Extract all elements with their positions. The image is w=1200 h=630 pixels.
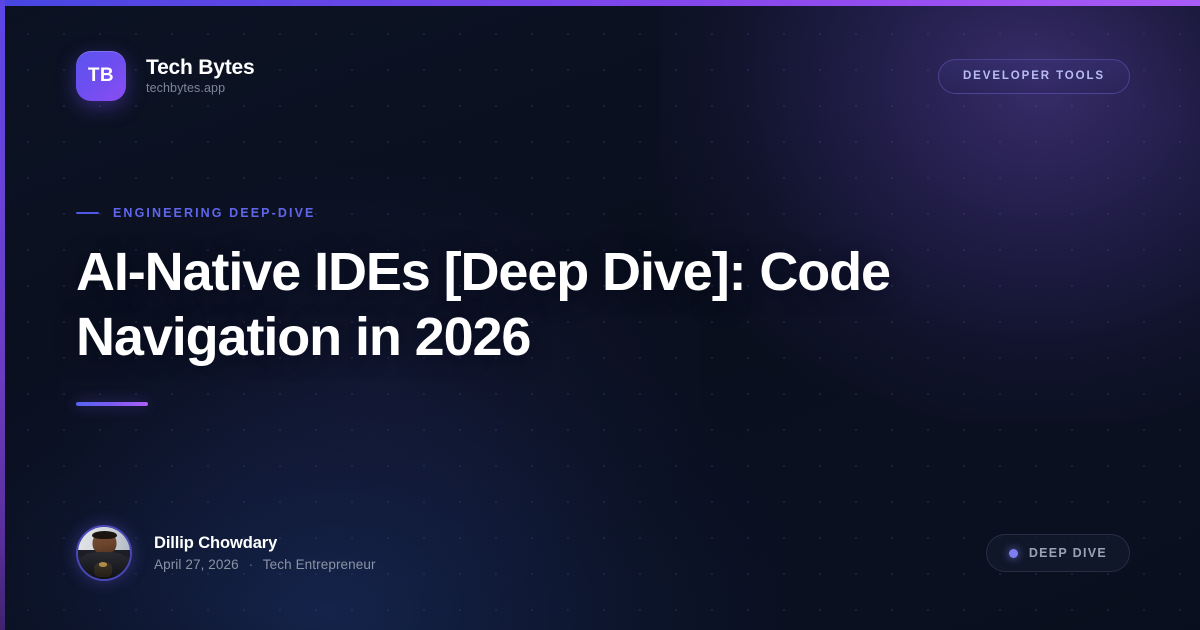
accent-underline <box>76 402 148 406</box>
content-type-badge[interactable]: DEEP DIVE <box>986 534 1130 572</box>
brand-url: techbytes.app <box>146 82 255 96</box>
top-gradient-bar <box>0 0 1200 6</box>
card-header: TB Tech Bytes techbytes.app DEVELOPER TO… <box>76 48 1130 104</box>
category-badge[interactable]: DEVELOPER TOOLS <box>938 59 1130 94</box>
avatar-photo-highlight <box>99 562 107 566</box>
social-share-card: TB Tech Bytes techbytes.app DEVELOPER TO… <box>0 0 1200 630</box>
brand-logo-badge: TB <box>76 51 126 101</box>
avatar-photo-hair <box>92 531 117 540</box>
status-dot-icon <box>1009 549 1018 558</box>
author-text-block: Dillip Chowdary April 27, 2026 · Tech En… <box>154 534 376 573</box>
author-block[interactable]: Dillip Chowdary April 27, 2026 · Tech En… <box>76 525 376 581</box>
page-title: AI-Native IDEs [Deep Dive]: Code Navigat… <box>76 240 991 370</box>
content-type-label: DEEP DIVE <box>1029 546 1107 560</box>
brand-block[interactable]: TB Tech Bytes techbytes.app <box>76 51 255 101</box>
publish-date: April 27, 2026 <box>154 557 239 572</box>
avatar <box>76 525 132 581</box>
meta-separator: · <box>243 557 260 572</box>
eyebrow-label: ENGINEERING DEEP-DIVE <box>113 206 315 220</box>
brand-logo-initials: TB <box>88 65 114 87</box>
brand-text-block: Tech Bytes techbytes.app <box>146 56 255 96</box>
eyebrow-dash-icon <box>76 212 99 214</box>
eyebrow-row: ENGINEERING DEEP-DIVE <box>76 206 1036 220</box>
brand-name: Tech Bytes <box>146 56 255 79</box>
author-meta: April 27, 2026 · Tech Entrepreneur <box>154 558 376 573</box>
card-main-content: ENGINEERING DEEP-DIVE AI-Native IDEs [De… <box>76 206 1036 406</box>
left-gradient-bar <box>0 0 5 630</box>
author-role: Tech Entrepreneur <box>263 557 376 572</box>
card-footer: Dillip Chowdary April 27, 2026 · Tech En… <box>76 522 1130 584</box>
author-name: Dillip Chowdary <box>154 534 376 552</box>
